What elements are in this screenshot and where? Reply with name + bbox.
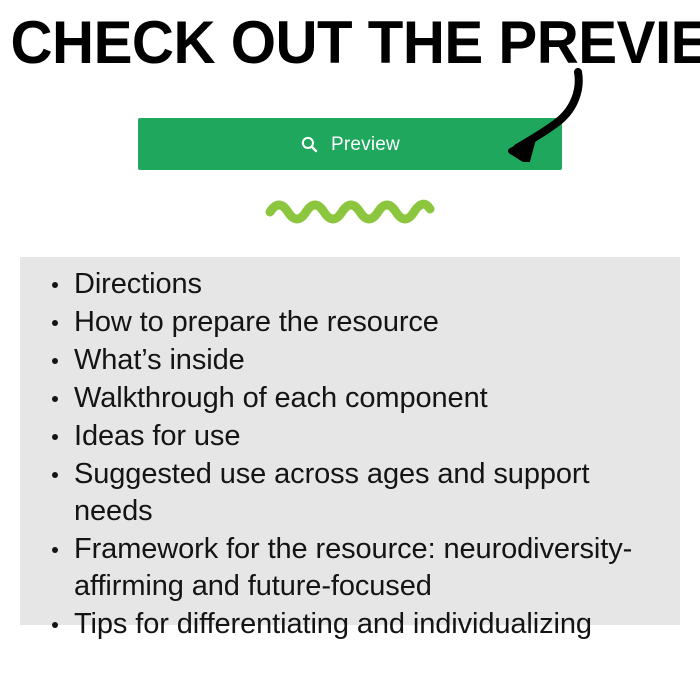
list-item: Tips for differentiating and individuali… xyxy=(37,606,664,643)
preview-button-label: Preview xyxy=(331,135,400,154)
list-item: Directions xyxy=(37,266,664,303)
list-item: How to prepare the resource xyxy=(37,304,664,341)
squiggle-divider xyxy=(262,196,438,226)
preview-contents-list: Directions How to prepare the resource W… xyxy=(37,266,664,643)
list-item: Suggested use across ages and support ne… xyxy=(37,456,664,530)
content-panel: Directions How to prepare the resource W… xyxy=(20,257,680,625)
preview-button[interactable]: Preview xyxy=(138,118,562,170)
list-item: Framework for the resource: neurodiversi… xyxy=(37,531,664,605)
slide-canvas: CHECK OUT THE PREVIEW Preview Directions… xyxy=(0,0,700,700)
list-item: Walkthrough of each component xyxy=(37,380,664,417)
list-item: Ideas for use xyxy=(37,418,664,455)
search-icon xyxy=(300,135,319,154)
page-title: CHECK OUT THE PREVIEW xyxy=(11,12,690,74)
list-item: What’s inside xyxy=(37,342,664,379)
